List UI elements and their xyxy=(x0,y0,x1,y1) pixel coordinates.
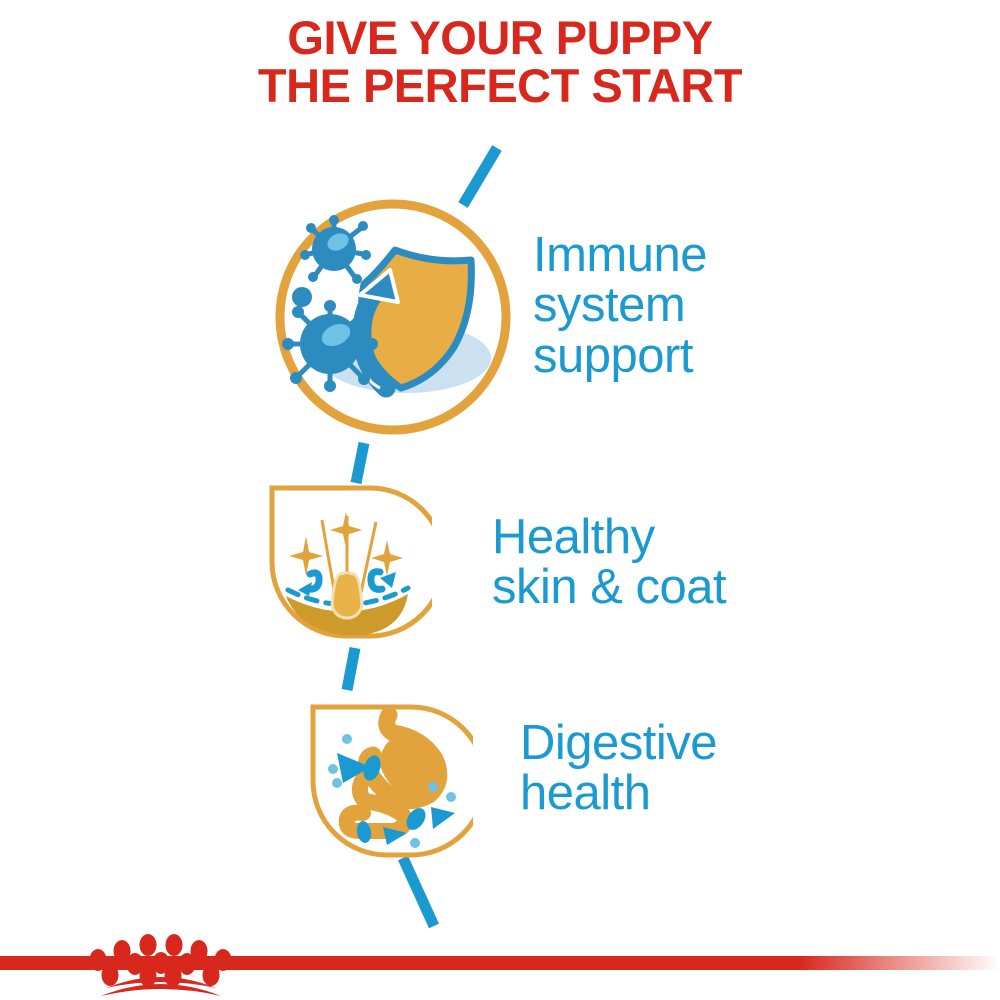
follicle-bulbs xyxy=(332,573,362,618)
benefit-label-skin: Healthy skin & coat xyxy=(492,512,726,613)
footer-brand-bar xyxy=(0,900,1000,1000)
benefit-label-immune-line-3: support xyxy=(533,331,707,381)
swirl-arrow-right xyxy=(371,572,382,590)
hair-follicle-skin-icon xyxy=(262,478,432,648)
arrow-triangle-right xyxy=(431,807,455,829)
shield-virus-icon xyxy=(268,192,518,442)
sparkle-left xyxy=(289,536,323,576)
benefit-label-immune-line-1: Immune xyxy=(533,230,707,280)
benefits-list: Immune system support xyxy=(0,0,1000,1000)
virus-dot-small xyxy=(292,287,312,307)
royal-canin-crown-logo xyxy=(90,934,232,996)
benefit-label-skin-line-1: Healthy xyxy=(492,512,726,562)
sparkle-mid xyxy=(330,512,362,548)
benefit-label-immune: Immune system support xyxy=(533,230,707,381)
virus-lower xyxy=(282,300,378,392)
benefit-label-immune-line-2: system xyxy=(533,280,707,330)
benefit-label-skin-line-2: skin & coat xyxy=(492,562,726,612)
benefit-label-digest-line-2: health xyxy=(520,768,717,818)
benefit-label-digest-line-1: Digestive xyxy=(520,718,717,768)
stomach-intestine-icon xyxy=(303,697,473,867)
virus-upper xyxy=(300,215,371,284)
benefit-label-digest: Digestive health xyxy=(520,718,717,819)
